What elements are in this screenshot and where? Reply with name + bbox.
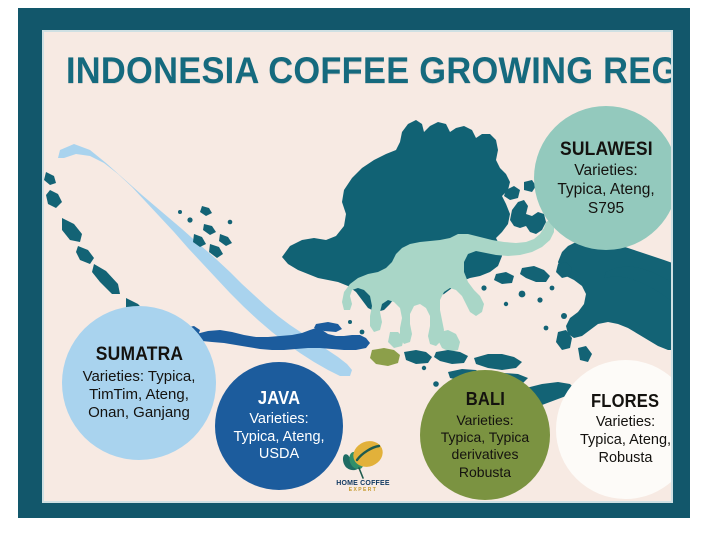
varieties-label: Varieties:	[233, 411, 324, 429]
region-name-java: JAVA	[258, 388, 300, 410]
poster-inner-panel: INDONESIA COFFEE GROWING REGIONS SULAWES…	[42, 30, 673, 503]
brand-name: HOME COFFEE	[336, 480, 390, 487]
region-varieties-java: Varieties: Typica, Ateng, USDA	[233, 411, 324, 464]
region-callout-sulawesi[interactable]: SULAWESI Varieties: Typica, Ateng, S795	[534, 106, 673, 250]
region-callout-bali[interactable]: BALI Varieties: Typica, Typica derivativ…	[420, 370, 550, 500]
varieties-line: derivatives	[441, 446, 529, 463]
poster-frame: INDONESIA COFFEE GROWING REGIONS SULAWES…	[18, 8, 690, 518]
varieties-line: Robusta	[441, 464, 529, 481]
varieties-label: Varieties:	[557, 162, 654, 181]
varieties-line: Onan, Ganjang	[83, 404, 196, 422]
coffee-bean-icon	[338, 437, 388, 479]
varieties-line: Typica, Typica	[441, 429, 529, 446]
brand-tagline: EXPERT	[349, 487, 377, 493]
region-name-flores: FLORES	[591, 391, 659, 413]
varieties-line: S795	[557, 200, 654, 219]
region-name-sumatra: SUMATRA	[95, 343, 182, 366]
page-title: INDONESIA COFFEE GROWING REGIONS	[66, 50, 649, 92]
varieties-label: Varieties: Typica,	[83, 368, 196, 386]
varieties-line: Robusta	[580, 450, 671, 468]
varieties-line: TimTim, Ateng,	[83, 386, 196, 404]
brand-logo[interactable]: HOME COFFEE EXPERT	[332, 437, 394, 499]
region-varieties-sumatra: Varieties: Typica, TimTim, Ateng, Onan, …	[83, 368, 196, 423]
region-varieties-bali: Varieties: Typica, Typica derivatives Ro…	[441, 412, 529, 480]
region-name-sulawesi: SULAWESI	[560, 138, 653, 161]
region-callout-java[interactable]: JAVA Varieties: Typica, Ateng, USDA	[215, 362, 343, 490]
varieties-line: Typica, Ateng,	[233, 429, 324, 447]
varieties-line: USDA	[233, 446, 324, 464]
region-callout-sumatra[interactable]: SUMATRA Varieties: Typica, TimTim, Ateng…	[62, 306, 216, 460]
varieties-label: Varieties:	[580, 414, 671, 432]
region-varieties-sulawesi: Varieties: Typica, Ateng, S795	[557, 162, 654, 219]
region-name-bali: BALI	[465, 389, 504, 411]
island-bali	[370, 348, 400, 366]
varieties-label: Varieties:	[441, 412, 529, 429]
varieties-line: Typica, Ateng,	[580, 432, 671, 450]
region-varieties-flores: Varieties: Typica, Ateng, Robusta	[580, 414, 671, 467]
varieties-line: Typica, Ateng,	[557, 181, 654, 200]
